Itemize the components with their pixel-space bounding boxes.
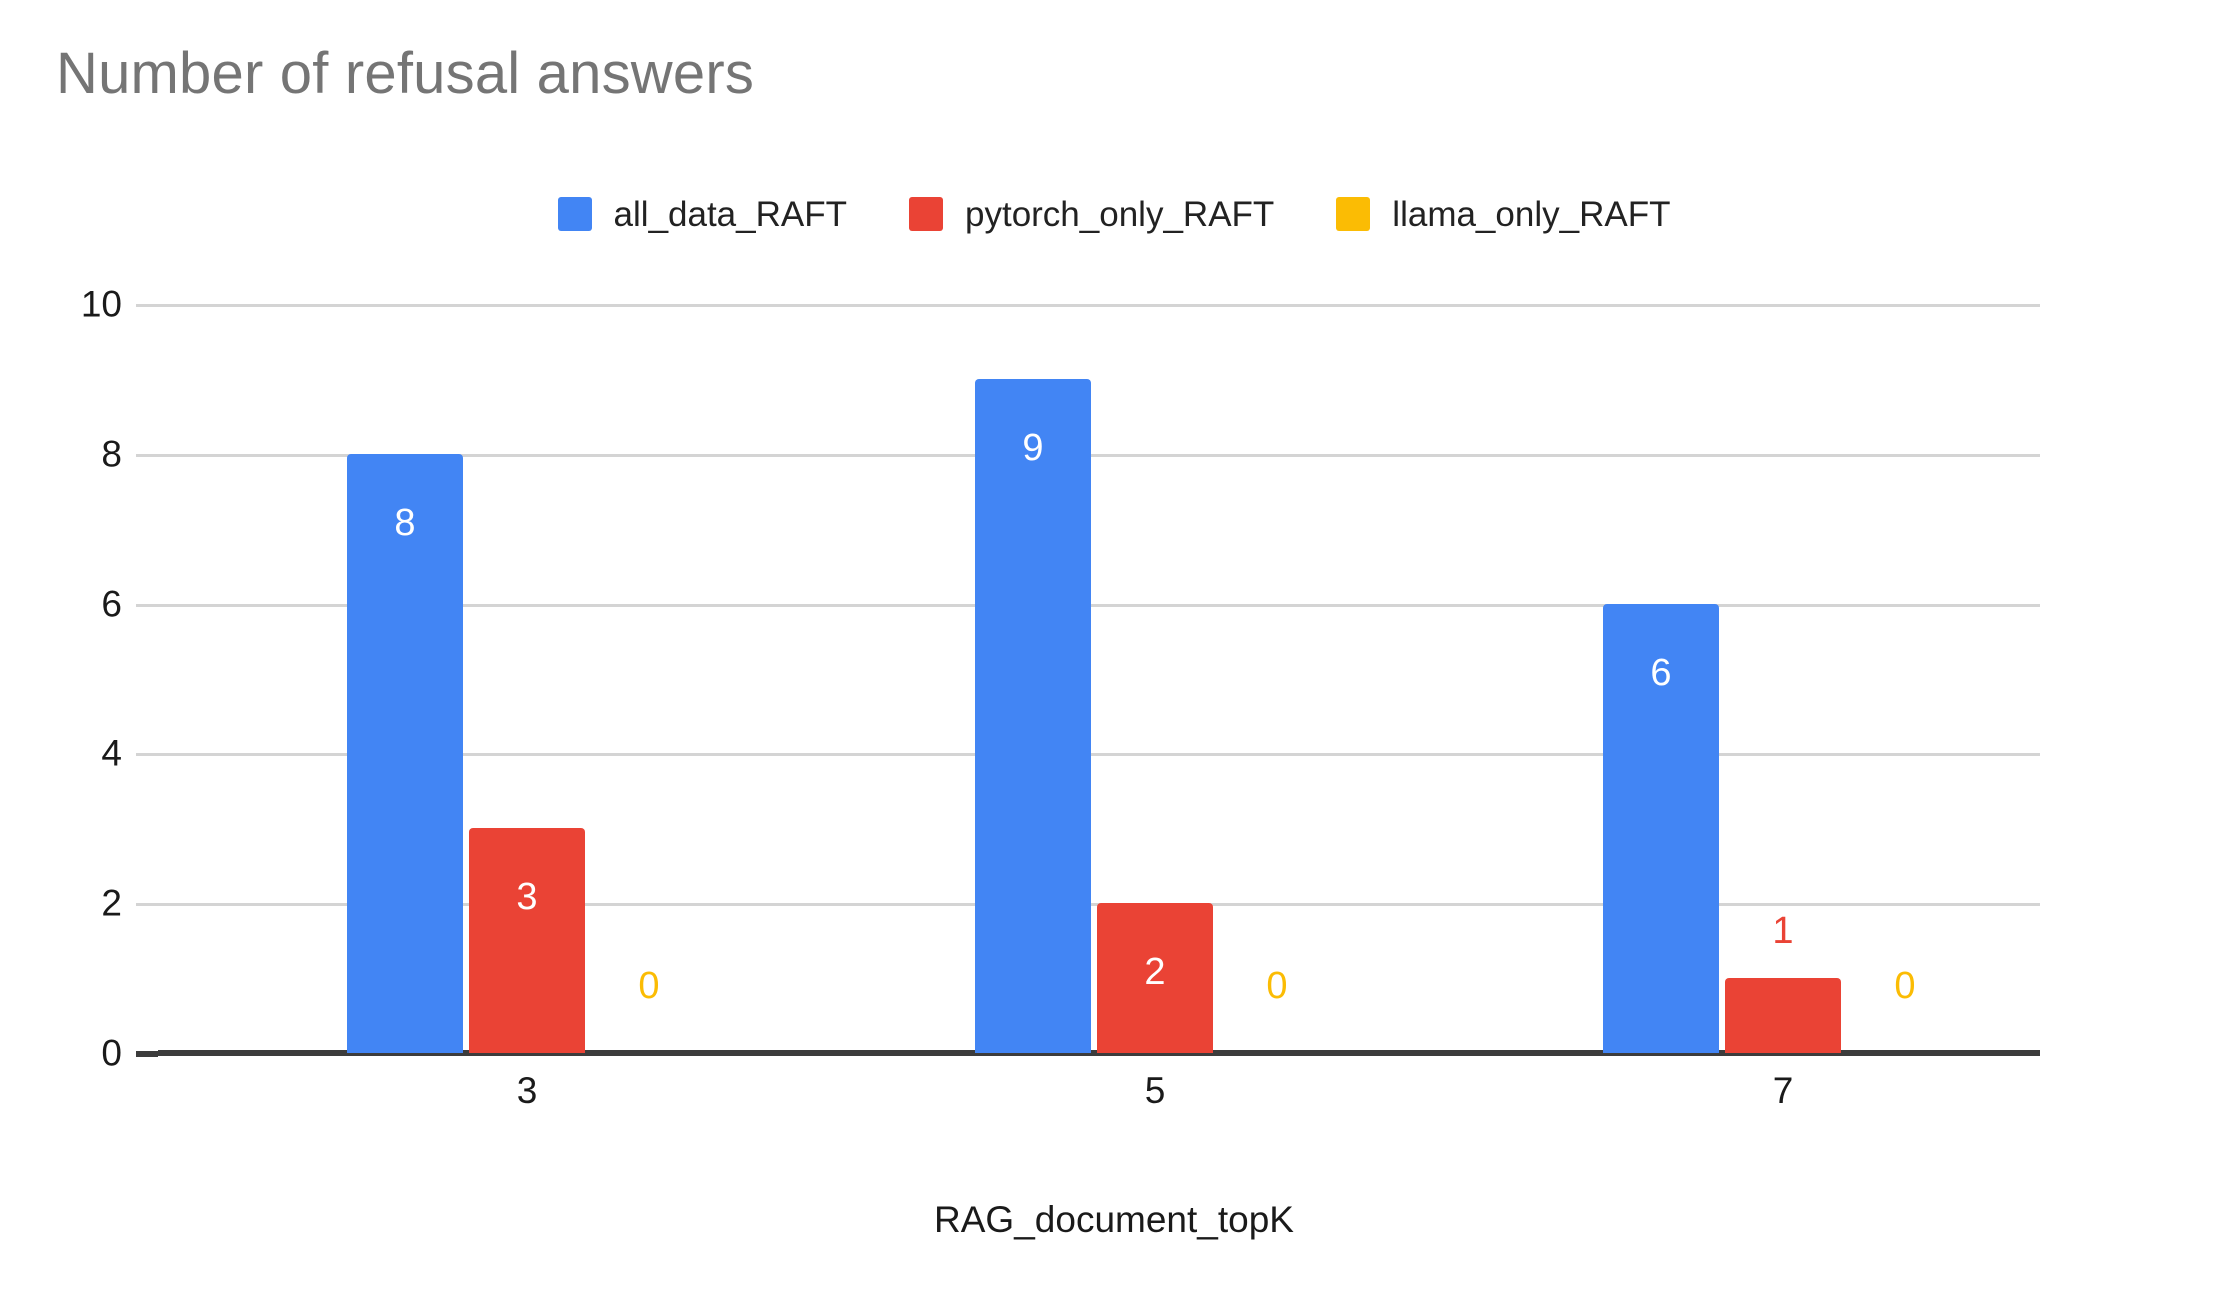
bar-label-llama-only-raft-5: 0 [1219,967,1335,1005]
bar-label-all-data-raft-5: 9 [975,429,1091,467]
chart-container: Number of refusal answers all_data_RAFT … [0,0,2228,1290]
y-tick-mark-10 [136,304,158,307]
y-axis-tick-label-10: 10 [81,286,122,323]
bar-label-pytorch-only-raft-7: 1 [1725,912,1841,950]
x-axis-tick-label-5: 5 [1145,1072,1166,1109]
y-tick-mark-8 [136,454,158,457]
y-tick-mark-0 [136,1051,158,1057]
legend-label-pytorch-only-raft: pytorch_only_RAFT [965,197,1274,232]
bar-pytorch-only-raft-5[interactable]: 2 [1097,903,1213,1053]
y-tick-mark-4 [136,753,158,756]
bar-pytorch-only-raft-7[interactable] [1725,978,1841,1053]
legend-swatch-blue-icon [558,197,592,231]
x-axis-tick-label-3: 3 [517,1072,538,1109]
bar-label-all-data-raft-3: 8 [347,504,463,542]
legend-item-llama-only-raft[interactable]: llama_only_RAFT [1336,197,1670,232]
y-axis-tick-label-0: 0 [101,1035,122,1072]
bar-label-all-data-raft-7: 6 [1603,654,1719,692]
legend-swatch-red-icon [909,197,943,231]
chart-legend: all_data_RAFT pytorch_only_RAFT llama_on… [0,188,2228,240]
bar-label-llama-only-raft-7: 0 [1847,967,1963,1005]
legend-label-all-data-raft: all_data_RAFT [614,197,847,232]
bar-all-data-raft-5[interactable]: 9 [975,379,1091,1053]
legend-item-all-data-raft[interactable]: all_data_RAFT [558,197,847,232]
x-axis-title: RAG_document_topK [0,1199,2228,1241]
y-axis-tick-label-6: 6 [101,586,122,623]
y-axis-tick-label-4: 4 [101,735,122,772]
y-tick-mark-6 [136,604,158,607]
gridline-10 [158,304,2040,307]
bar-pytorch-only-raft-3[interactable]: 3 [469,828,585,1053]
chart-title: Number of refusal answers [56,40,754,108]
y-axis-tick-label-8: 8 [101,436,122,473]
bar-label-pytorch-only-raft-3: 3 [469,878,585,916]
bar-all-data-raft-3[interactable]: 8 [347,454,463,1053]
x-axis-tick-label-7: 7 [1773,1072,1794,1109]
bar-label-pytorch-only-raft-5: 2 [1097,953,1213,991]
legend-label-llama-only-raft: llama_only_RAFT [1392,197,1670,232]
y-tick-mark-2 [136,903,158,906]
plot-area: 10 8 6 4 2 0 8 3 0 9 2 0 6 1 0 [158,304,2040,1053]
bar-all-data-raft-7[interactable]: 6 [1603,604,1719,1053]
y-axis-tick-label-2: 2 [101,885,122,922]
legend-item-pytorch-only-raft[interactable]: pytorch_only_RAFT [909,197,1274,232]
legend-swatch-yellow-icon [1336,197,1370,231]
bar-label-llama-only-raft-3: 0 [591,967,707,1005]
